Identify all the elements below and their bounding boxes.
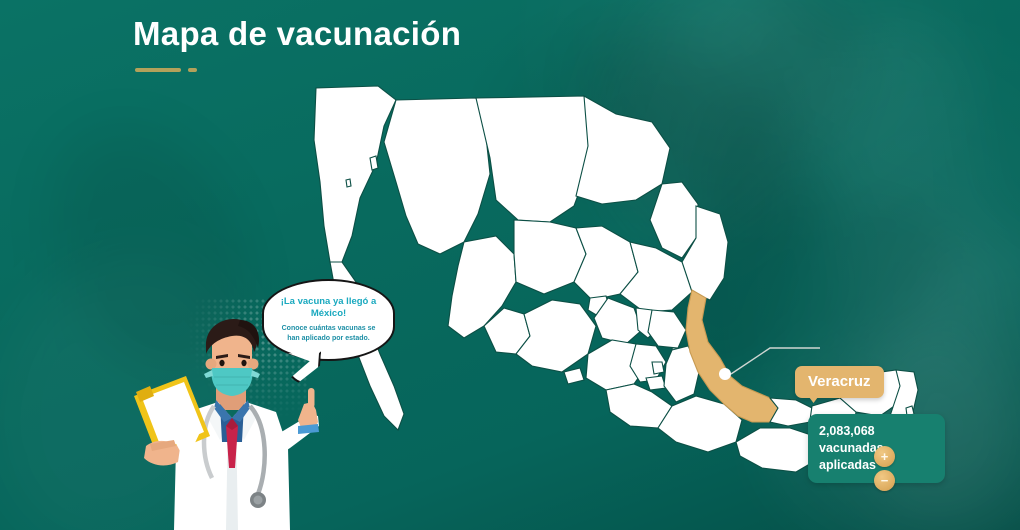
title-underline-accent — [135, 68, 461, 72]
header: Mapa de vacunación — [133, 16, 461, 72]
map-zoom-controls: + − — [874, 446, 895, 491]
island-isla-angel — [370, 156, 378, 170]
vaccination-map-page: Mapa de vacunación — [0, 0, 1020, 530]
accent-dash-long — [135, 68, 181, 72]
zoom-in-button[interactable]: + — [874, 446, 895, 467]
island-small — [346, 179, 351, 187]
state-baja-california — [314, 86, 396, 262]
tooltip-state-name[interactable]: Veracruz — [795, 366, 884, 398]
pointing-hand — [298, 388, 319, 434]
state-hidalgo — [648, 310, 686, 348]
page-title: Mapa de vacunación — [133, 16, 461, 52]
doctor-illustration — [128, 318, 343, 530]
speech-bubble-heading: ¡La vacuna ya llegó a México! — [275, 296, 382, 320]
state-sonora — [384, 98, 490, 254]
veracruz-marker-dot — [719, 368, 731, 380]
state-morelos — [646, 376, 666, 390]
state-tabasco — [770, 398, 812, 426]
zoom-out-button[interactable]: − — [874, 470, 895, 491]
state-chihuahua — [476, 96, 594, 222]
state-coahuila — [576, 96, 670, 204]
state-colima — [564, 368, 584, 384]
state-cdmx — [652, 362, 664, 374]
face-mask — [204, 368, 260, 396]
accent-dash-short — [188, 68, 197, 72]
